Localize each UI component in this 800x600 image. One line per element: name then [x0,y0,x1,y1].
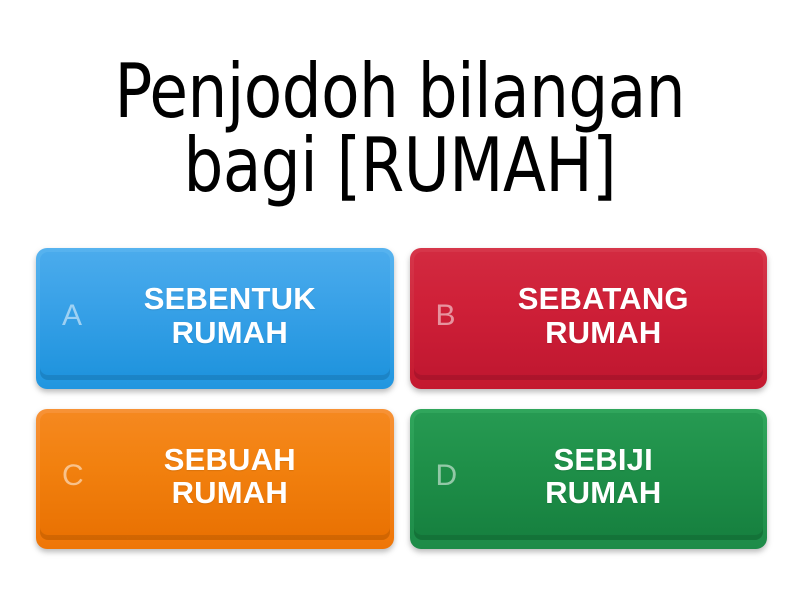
answer-option-c-surface: C SEBUAH RUMAH [40,413,390,541]
answer-text-c: SEBUAH RUMAH [40,443,390,510]
quiz-slide: Penjodoh bilangan bagi [RUMAH] A SEBENTU… [0,0,800,600]
answer-option-b[interactable]: B SEBATANG RUMAH [410,248,768,389]
answer-option-a-surface: A SEBENTUK RUMAH [40,252,390,380]
answer-option-b-surface: B SEBATANG RUMAH [414,252,764,380]
answer-option-c[interactable]: C SEBUAH RUMAH [36,409,394,550]
answer-options-grid: A SEBENTUK RUMAH B SEBATANG RUMAH C SEBU… [0,248,800,600]
answer-text-a: SEBENTUK RUMAH [40,282,390,349]
answer-option-d-surface: D SEBIJI RUMAH [414,413,764,541]
answer-option-d[interactable]: D SEBIJI RUMAH [410,409,768,550]
question-title: Penjodoh bilangan bagi [RUMAH] [115,54,686,203]
answer-text-b: SEBATANG RUMAH [414,282,764,349]
answer-option-a[interactable]: A SEBENTUK RUMAH [36,248,394,389]
answer-text-d: SEBIJI RUMAH [414,443,764,510]
question-area: Penjodoh bilangan bagi [RUMAH] [0,0,800,248]
